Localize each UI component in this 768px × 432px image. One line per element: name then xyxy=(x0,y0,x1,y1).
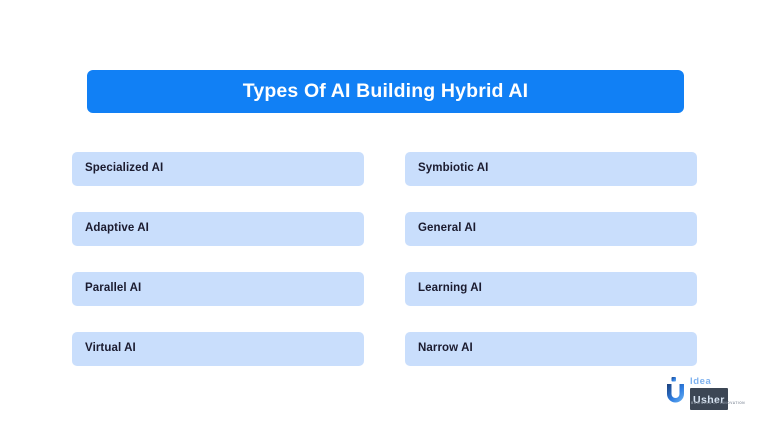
list-item[interactable]: Virtual AI xyxy=(72,332,364,366)
brand-logo: Idea Usher BUSINESS OF INNOVATION xyxy=(663,376,759,410)
list-item-label: Specialized AI xyxy=(85,163,163,175)
infographic-canvas: Types Of AI Building Hybrid AI Specializ… xyxy=(0,0,768,432)
items-grid: Specialized AI Adaptive AI Parallel AI V… xyxy=(72,152,697,366)
list-item-label: General AI xyxy=(418,223,476,235)
list-item[interactable]: Parallel AI xyxy=(72,272,364,306)
list-item-label: Symbiotic AI xyxy=(418,163,488,175)
logo-tagline: BUSINESS OF INNOVATION xyxy=(691,402,745,405)
logo-secondary-box: Usher xyxy=(690,388,728,410)
list-item[interactable]: Adaptive AI xyxy=(72,212,364,246)
list-item[interactable]: Learning AI xyxy=(405,272,697,306)
list-item-label: Virtual AI xyxy=(85,343,136,355)
list-item[interactable]: General AI xyxy=(405,212,697,246)
list-item-label: Adaptive AI xyxy=(85,223,149,235)
list-item[interactable]: Narrow AI xyxy=(405,332,697,366)
title-banner: Types Of AI Building Hybrid AI xyxy=(87,70,684,113)
u-letter-mark-icon xyxy=(663,376,689,406)
list-item-label: Learning AI xyxy=(418,283,482,295)
list-item-label: Parallel AI xyxy=(85,283,141,295)
logo-wordmark: Idea Usher BUSINESS OF INNOVATION xyxy=(690,377,756,407)
logo-primary-text: Idea xyxy=(690,377,711,387)
page-title: Types Of AI Building Hybrid AI xyxy=(243,82,528,102)
list-item-label: Narrow AI xyxy=(418,343,473,355)
list-item[interactable]: Symbiotic AI xyxy=(405,152,697,186)
list-item[interactable]: Specialized AI xyxy=(72,152,364,186)
